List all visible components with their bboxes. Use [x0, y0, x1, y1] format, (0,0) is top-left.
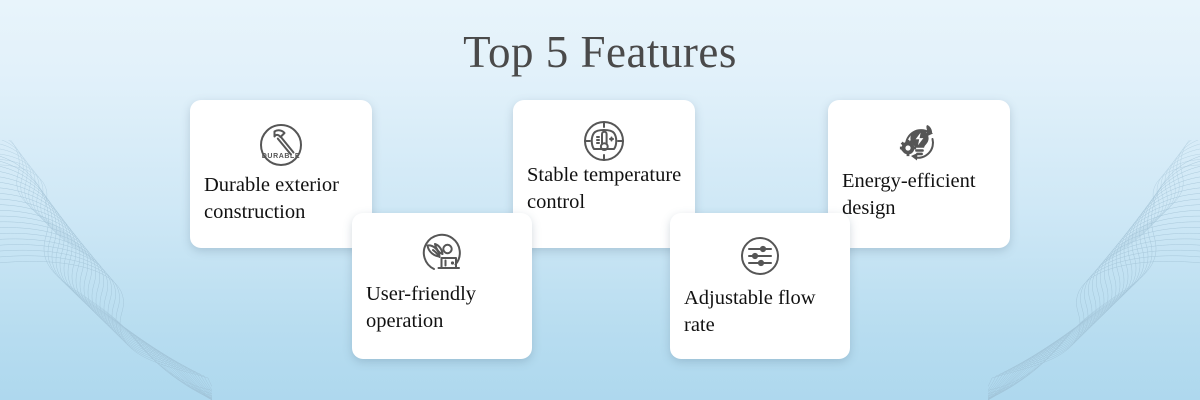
feature-card-label: Stable temperature control — [527, 162, 683, 217]
wave-decoration-right — [988, 140, 1200, 400]
feature-card-label: Durable exterior construction — [204, 172, 360, 227]
feature-card-label: User-friendly operation — [366, 281, 520, 336]
feature-card-adjustable-flow-rate[interactable]: Adjustable flow rate — [670, 213, 850, 359]
page-title: Top 5 Features — [0, 28, 1200, 78]
wave-decoration-left — [0, 140, 212, 400]
feature-card-energy-efficient-design[interactable]: Energy-efficient design — [828, 100, 1010, 248]
feature-card-label: Adjustable flow rate — [684, 285, 838, 340]
eco-lightbulb-gear-icon — [828, 114, 1010, 172]
sliders-icon — [670, 227, 850, 285]
hammer-durable-icon: DURABLE — [190, 116, 372, 174]
feature-card-stable-temperature-control[interactable]: Stable temperature control — [513, 100, 695, 248]
feature-card-durable-exterior-construction[interactable]: DURABLE Durable exterior construction — [190, 100, 372, 248]
feature-card-user-friendly-operation[interactable]: User-friendly operation — [352, 213, 532, 359]
feature-card-label: Energy-efficient design — [842, 168, 998, 223]
features-infographic: Top 5 Features DURABLE Durable exterior … — [0, 0, 1200, 400]
person-laptop-leaf-icon — [352, 227, 532, 285]
svg-text:DURABLE: DURABLE — [262, 153, 300, 160]
